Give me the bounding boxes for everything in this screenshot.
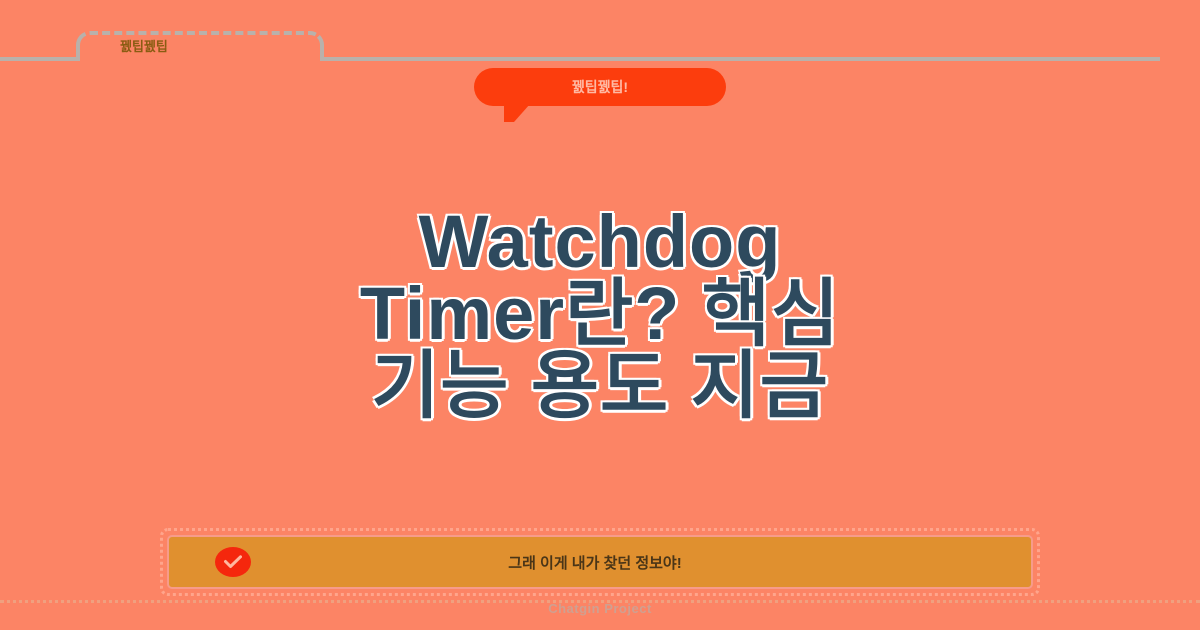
top-rule-left	[0, 57, 78, 61]
callout-banner-inner: 그래 이게 내가 찾던 정보야!	[167, 535, 1033, 589]
callout-banner-message: 그래 이게 내가 찾던 정보야!	[251, 552, 939, 573]
page-title-line-1: Watchdog	[0, 206, 1200, 278]
footer-brand-label: Chatgin Project	[0, 601, 1200, 616]
speech-bubble-tail	[504, 104, 530, 122]
page-title-line-2: Timer란? 핵심	[0, 278, 1200, 350]
active-tab-label: 꿼팁꿼팁	[120, 36, 300, 55]
speech-bubble-label: 꿼팁꿼팁!	[572, 77, 628, 97]
speech-bubble: 꿼팁꿼팁!	[474, 68, 726, 106]
check-circle-icon	[215, 547, 251, 577]
top-rule-right	[322, 57, 1160, 61]
callout-banner: 그래 이게 내가 찾던 정보야!	[160, 528, 1040, 596]
page-title-line-3: 기능 용도 지금	[0, 350, 1200, 422]
page-title: Watchdog Timer란? 핵심 기능 용도 지금	[0, 206, 1200, 422]
active-tab[interactable]	[76, 31, 324, 61]
